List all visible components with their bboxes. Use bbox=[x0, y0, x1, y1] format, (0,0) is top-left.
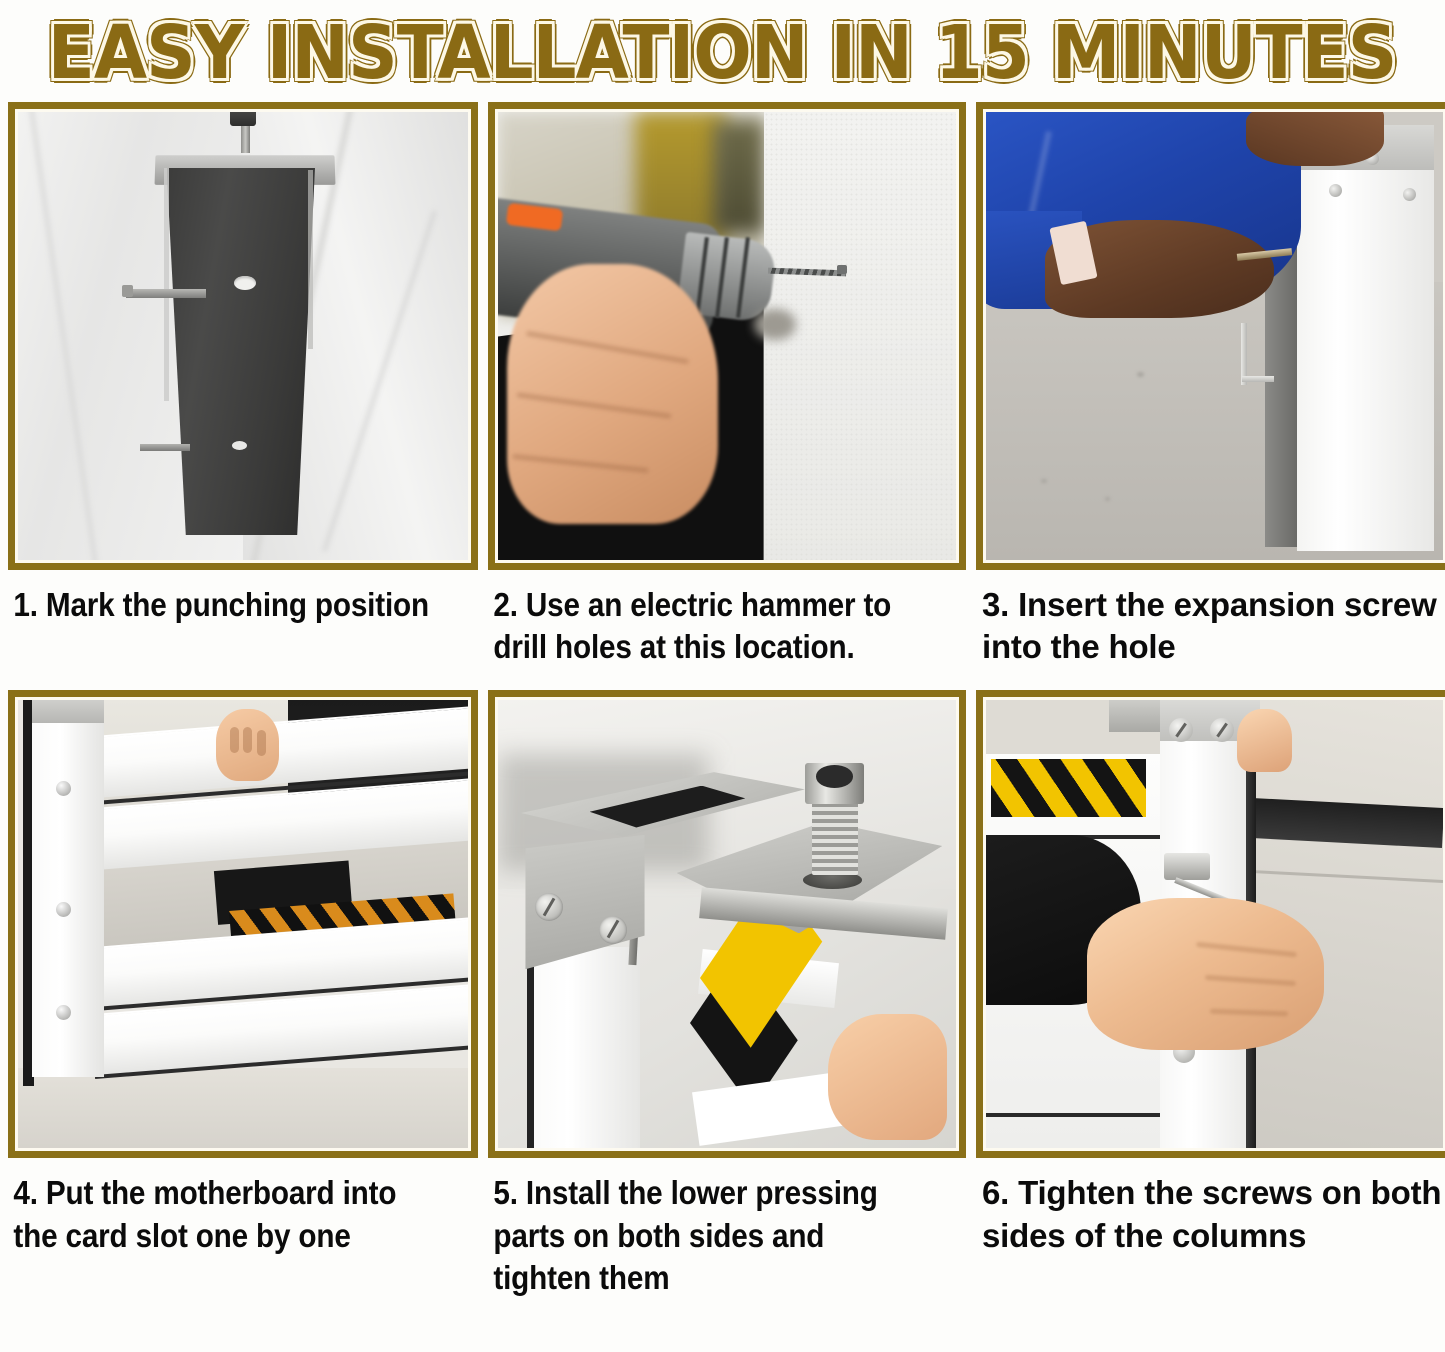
blurred-object-icon bbox=[713, 121, 763, 233]
step-caption-3: 3. Insert the expansion screw into the h… bbox=[976, 584, 1445, 668]
wall-texture bbox=[764, 112, 956, 560]
bracket-hole-upper bbox=[234, 276, 256, 290]
column-dark-edge bbox=[527, 947, 534, 1149]
white-post bbox=[32, 700, 104, 1076]
step-card-2: 2. Use an electric hammer to drill holes… bbox=[488, 102, 966, 668]
step-caption-2: 2. Use an electric hammer to drill holes… bbox=[488, 584, 918, 668]
bracket-edge-highlight bbox=[308, 170, 313, 349]
photo-frame-4 bbox=[8, 690, 478, 1158]
panel-seam bbox=[986, 1113, 1178, 1117]
drill-bit-tip bbox=[837, 265, 847, 274]
photo-tighten-column-screws bbox=[986, 700, 1443, 1148]
hazard-stripe-tape bbox=[991, 759, 1146, 817]
step-card-6: 6. Tighten the screws on both sides of t… bbox=[976, 690, 1445, 1299]
drill-dust bbox=[754, 309, 795, 340]
step-card-3: 3. Insert the expansion screw into the h… bbox=[976, 102, 1445, 668]
floor bbox=[18, 1068, 468, 1149]
stud-lower bbox=[140, 444, 190, 451]
floor-mark bbox=[1137, 372, 1144, 377]
second-hand bbox=[1246, 112, 1383, 166]
bolt-thread bbox=[812, 799, 858, 875]
finger bbox=[257, 730, 266, 756]
stud-upper-cap bbox=[122, 285, 133, 297]
phillips-screw-icon bbox=[535, 893, 563, 921]
hex-socket-icon bbox=[816, 765, 853, 787]
hex-fitting bbox=[1164, 853, 1210, 880]
photo-lower-pressing-part bbox=[498, 700, 956, 1148]
top-bolt-head bbox=[230, 112, 256, 126]
finger bbox=[243, 727, 252, 753]
page-title: EASY INSTALLATION IN 15 MINUTES bbox=[48, 16, 1397, 90]
bracket-body bbox=[167, 168, 316, 535]
photo-electric-hammer-drill bbox=[498, 112, 956, 560]
post-top-cap bbox=[32, 700, 104, 722]
step-caption-5: 5. Install the lower pressing parts on b… bbox=[488, 1172, 918, 1299]
column-screw bbox=[1403, 188, 1416, 201]
step-caption-4: 4. Put the motherboard into the card slo… bbox=[8, 1172, 431, 1256]
photo-frame-6 bbox=[976, 690, 1445, 1158]
photo-frame-2 bbox=[488, 102, 966, 570]
white-column bbox=[530, 947, 640, 1149]
thumb bbox=[1237, 709, 1292, 772]
phillips-screw-icon bbox=[599, 916, 627, 944]
steps-grid-row-1: 1. Mark the punching position bbox=[0, 102, 1445, 668]
bracket-edge-highlight bbox=[164, 168, 169, 401]
steps-grid-row-2: 4. Put the motherboard into the card slo… bbox=[0, 690, 1445, 1299]
allen-key-short-arm bbox=[1242, 376, 1274, 382]
hand bbox=[1087, 898, 1325, 1050]
photo-frame-1 bbox=[8, 102, 478, 570]
step-card-5: 5. Install the lower pressing parts on b… bbox=[488, 690, 966, 1299]
photo-boards-into-card-slot bbox=[18, 700, 468, 1148]
header-banner: EASY INSTALLATION IN 15 MINUTES bbox=[0, 0, 1445, 102]
step-card-1: 1. Mark the punching position bbox=[8, 102, 478, 668]
photo-frame-3 bbox=[976, 102, 1445, 570]
hand bbox=[828, 1014, 947, 1139]
photo-mounting-template-bracket bbox=[18, 112, 468, 560]
step-caption-6: 6. Tighten the screws on both sides of t… bbox=[976, 1172, 1445, 1256]
photo-insert-expansion-screw bbox=[986, 112, 1443, 560]
finger bbox=[230, 727, 239, 753]
photo-frame-5 bbox=[488, 690, 966, 1158]
stud-upper bbox=[126, 289, 206, 298]
phillips-screw-icon bbox=[1169, 718, 1193, 742]
step-caption-1: 1. Mark the punching position bbox=[8, 584, 431, 626]
hand bbox=[507, 264, 718, 524]
step-card-4: 4. Put the motherboard into the card slo… bbox=[8, 690, 478, 1299]
